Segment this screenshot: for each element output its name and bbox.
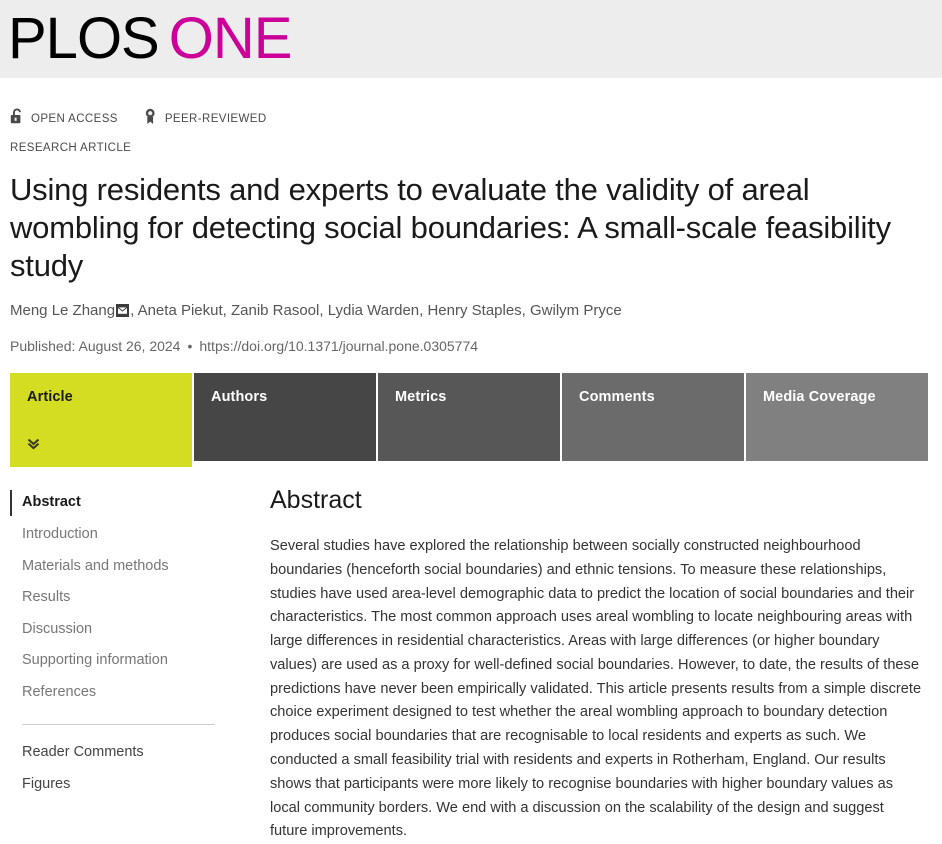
tab-authors[interactable]: Authors <box>194 373 376 461</box>
tab-comments[interactable]: Comments <box>562 373 744 461</box>
sidebar-item-materials-and-methods[interactable]: Materials and methods <box>10 551 225 583</box>
other-authors[interactable]: , Aneta Piekut, Zanib Rasool, Lydia Ward… <box>130 302 622 319</box>
sidebar-item-reader-comments[interactable]: Reader Comments <box>10 737 225 769</box>
sidebar-item-label: Figures <box>22 776 70 792</box>
tab-comments-label: Comments <box>579 389 744 405</box>
author-list: Meng Le Zhang, Aneta Piekut, Zanib Rasoo… <box>0 284 942 323</box>
envelope-icon[interactable] <box>116 302 129 323</box>
sidebar-item-label: Materials and methods <box>22 558 169 574</box>
publication-info: Published: August 26, 2024•https://doi.o… <box>0 323 942 354</box>
logo-one-text: ONE <box>169 6 292 71</box>
open-access-badge[interactable]: OPEN ACCESS <box>10 108 118 130</box>
sidebar-item-supporting-information[interactable]: Supporting information <box>10 645 225 677</box>
peer-reviewed-label: PEER-REVIEWED <box>165 113 267 125</box>
logo-plos-text: PLOS <box>8 6 159 71</box>
open-lock-icon <box>10 108 24 130</box>
abstract-heading: Abstract <box>270 487 922 515</box>
sidebar-item-label: Reader Comments <box>22 744 144 760</box>
article-title: Using residents and experts to evaluate … <box>0 171 942 284</box>
section-navigation: Abstract Introduction Materials and meth… <box>10 487 225 844</box>
tab-media-coverage-label: Media Coverage <box>763 389 928 405</box>
article-tabs: Article Authors Metrics Comments Media C… <box>0 373 942 467</box>
sidebar-item-label: Introduction <box>22 526 98 542</box>
sidebar-item-abstract[interactable]: Abstract <box>10 487 225 519</box>
tab-media-coverage[interactable]: Media Coverage <box>746 373 928 461</box>
article-body: Abstract Introduction Materials and meth… <box>0 467 942 844</box>
separator-dot: • <box>187 338 192 354</box>
sidebar-item-introduction[interactable]: Introduction <box>10 519 225 551</box>
sidebar-item-results[interactable]: Results <box>10 582 225 614</box>
peer-review-badge-icon <box>144 108 158 130</box>
tab-metrics-label: Metrics <box>395 389 560 405</box>
peer-reviewed-badge[interactable]: PEER-REVIEWED <box>144 108 267 130</box>
plos-one-logo[interactable]: PLOSONE <box>8 10 291 68</box>
sidebar-item-label: Results <box>22 589 70 605</box>
sidebar-item-label: Supporting information <box>22 652 168 668</box>
corresponding-author-name[interactable]: Meng Le Zhang <box>10 302 115 319</box>
tab-authors-label: Authors <box>211 389 376 405</box>
article-badges: OPEN ACCESS PEER-REVIEWED <box>0 78 942 130</box>
abstract-section: Abstract Several studies have explored t… <box>225 487 942 844</box>
doi-link[interactable]: https://doi.org/10.1371/journal.pone.030… <box>199 338 478 354</box>
abstract-body-text: Several studies have explored the relati… <box>270 535 922 844</box>
site-masthead: PLOSONE <box>0 0 942 78</box>
sidebar-item-label: Discussion <box>22 621 92 637</box>
tab-article[interactable]: Article <box>10 373 192 467</box>
chevron-double-down-icon[interactable] <box>26 436 41 456</box>
sidebar-item-figures[interactable]: Figures <box>10 769 225 801</box>
published-date: Published: August 26, 2024 <box>10 338 180 354</box>
article-type-label: RESEARCH ARTICLE <box>0 130 942 154</box>
tab-article-label: Article <box>27 389 192 405</box>
sidebar-item-label: Abstract <box>22 494 81 510</box>
sidebar-item-discussion[interactable]: Discussion <box>10 614 225 646</box>
tab-metrics[interactable]: Metrics <box>378 373 560 461</box>
sidebar-divider <box>22 724 215 725</box>
sidebar-item-references[interactable]: References <box>10 677 225 709</box>
sidebar-item-label: References <box>22 684 96 700</box>
open-access-label: OPEN ACCESS <box>31 113 118 125</box>
